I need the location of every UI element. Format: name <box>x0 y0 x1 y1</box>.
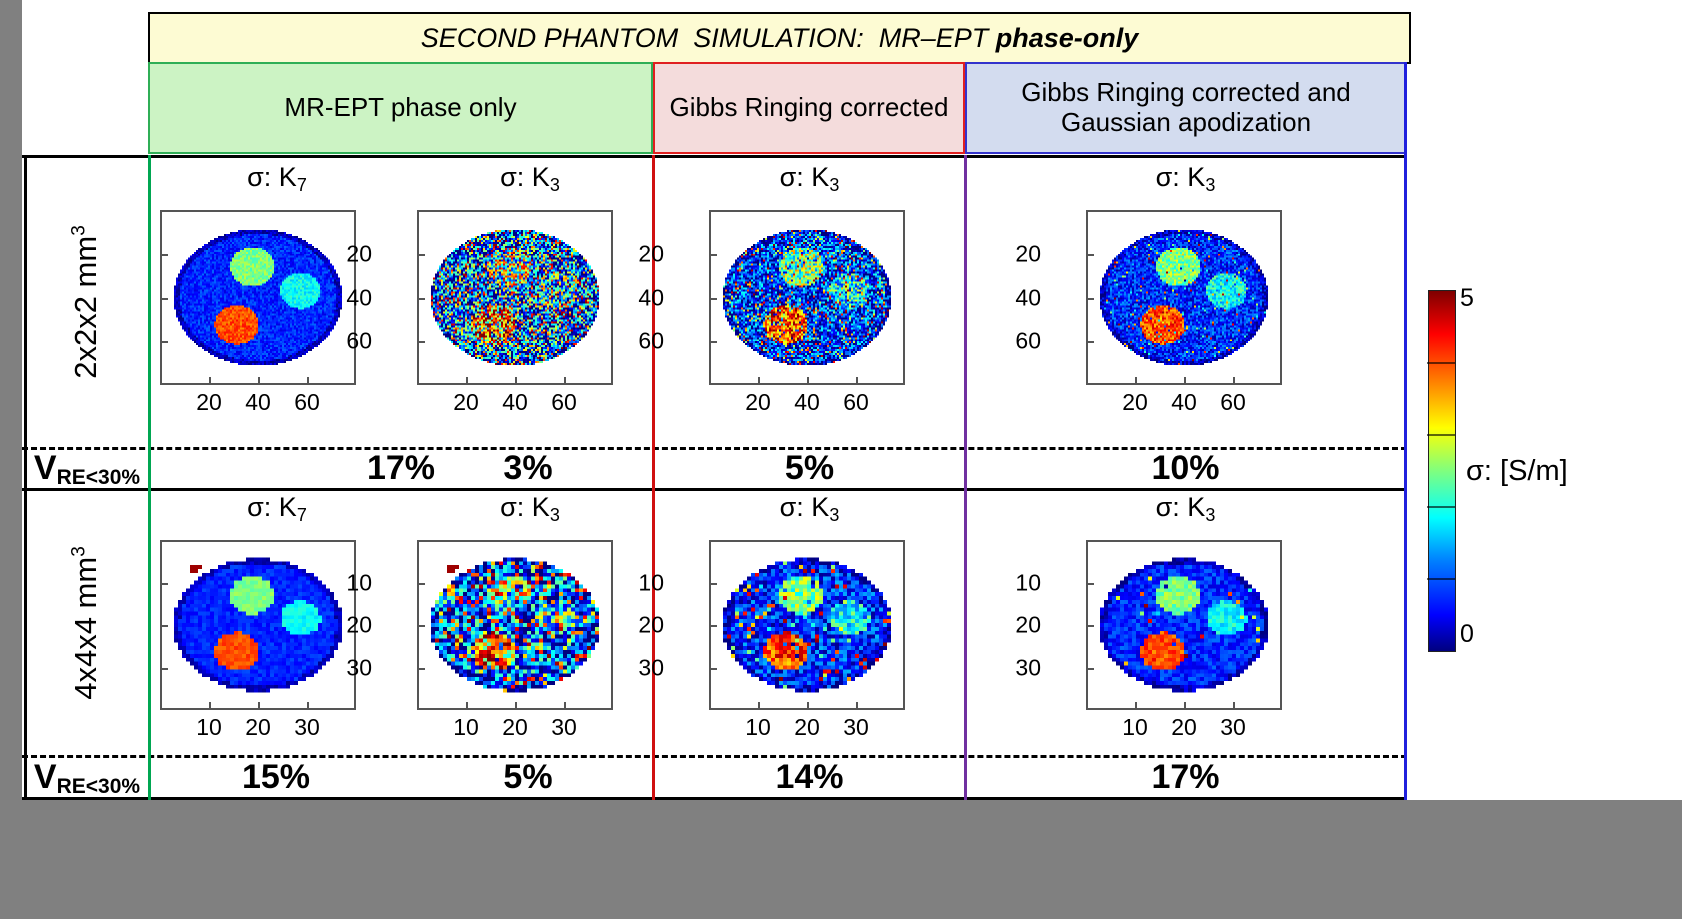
x-tick-mark <box>1135 702 1137 710</box>
y-tick-label: 20 <box>638 612 664 639</box>
phantom-image <box>711 212 903 383</box>
x-tick-label: 20 <box>1122 389 1148 416</box>
x-tick-label: 40 <box>794 389 820 416</box>
figure-title-banner: SECOND PHANTOM SIMULATION: MR–EPT phase-… <box>148 12 1411 64</box>
vre-main: V <box>34 758 57 796</box>
panel-axes <box>709 210 905 385</box>
x-tick-label: 60 <box>294 389 320 416</box>
x-tick-mark <box>856 702 858 710</box>
y-tick-mark <box>709 341 717 343</box>
column-header-mr-ept-phase-only: MR-EPT phase only <box>148 62 653 154</box>
vre-value-row2-col3: 14% <box>657 757 962 797</box>
separator-purple-right <box>964 155 967 800</box>
column-header-label: Gibbs Ringing corrected <box>670 93 949 123</box>
y-tick-mark <box>709 625 717 627</box>
y-tick-mark <box>1086 254 1094 256</box>
colorbar-tick <box>1427 506 1455 508</box>
colorbar-min-label: 0 <box>1460 620 1474 649</box>
column-header-label: Gibbs Ringing corrected and Gaussian apo… <box>973 78 1399 138</box>
colorbar-tick <box>1427 434 1455 436</box>
x-tick-label: 40 <box>502 389 528 416</box>
x-tick-label: 30 <box>294 714 320 741</box>
x-tick-mark <box>1233 377 1235 385</box>
x-tick-label: 20 <box>453 389 479 416</box>
x-tick-mark <box>209 702 211 710</box>
x-tick-mark <box>1233 702 1235 710</box>
x-tick-label: 20 <box>196 389 222 416</box>
x-tick-label: 20 <box>502 714 528 741</box>
y-tick-label: 30 <box>638 654 664 681</box>
panel-row2-col2: σ: K3 <box>405 492 655 757</box>
y-tick-mark <box>417 254 425 256</box>
colorbar: 5 0 <box>1428 290 1454 650</box>
x-tick-label: 10 <box>745 714 771 741</box>
phantom-image <box>711 542 903 708</box>
figure-page: SECOND PHANTOM SIMULATION: MR–EPT phase-… <box>0 0 1682 919</box>
y-tick-mark <box>709 668 717 670</box>
panel-title: σ: K3 <box>968 162 1403 193</box>
x-tick-label: 30 <box>551 714 577 741</box>
vre-value-row1-col4: 10% <box>968 449 1403 487</box>
x-tick-mark <box>856 377 858 385</box>
x-tick-mark <box>564 702 566 710</box>
panel-title: σ: K3 <box>405 492 655 523</box>
grid-hline-mid <box>22 488 1407 491</box>
vre-sub: RE<30% <box>57 466 140 489</box>
y-tick-mark <box>160 341 168 343</box>
x-tick-mark <box>807 377 809 385</box>
y-tick-mark <box>709 583 717 585</box>
y-tick-label: 60 <box>1015 328 1041 355</box>
vre-label-row2: VRE<30% <box>26 757 148 797</box>
x-tick-label: 30 <box>843 714 869 741</box>
x-tick-label: 40 <box>1171 389 1197 416</box>
panel-row1-col2: σ: K3 <box>405 162 655 447</box>
y-tick-label: 10 <box>638 569 664 596</box>
row-resolution-label: 4x4x4 mm <box>68 557 103 700</box>
phantom-image <box>162 542 354 708</box>
x-tick-mark <box>564 377 566 385</box>
colorbar-tick <box>1427 362 1455 364</box>
vre-sub: RE<30% <box>57 775 140 798</box>
y-tick-mark <box>417 583 425 585</box>
x-tick-label: 40 <box>245 389 271 416</box>
y-tick-label: 20 <box>1015 612 1041 639</box>
panel-axes <box>160 540 356 710</box>
y-tick-mark <box>709 254 717 256</box>
x-tick-mark <box>258 377 260 385</box>
y-tick-label: 30 <box>1015 654 1041 681</box>
x-tick-mark <box>515 377 517 385</box>
row-label-2x2x2: 2x2x2 mm3 <box>26 158 146 446</box>
x-tick-mark <box>807 702 809 710</box>
panel-title: σ: K3 <box>657 492 962 523</box>
y-tick-label: 20 <box>346 612 372 639</box>
colorbar-max-label: 5 <box>1460 284 1474 313</box>
vre-value-row1-col3: 5% <box>657 449 962 487</box>
x-tick-label: 20 <box>745 389 771 416</box>
x-tick-mark <box>1184 377 1186 385</box>
y-tick-mark <box>709 298 717 300</box>
x-tick-mark <box>758 702 760 710</box>
panel-axes <box>160 210 356 385</box>
y-tick-mark <box>417 668 425 670</box>
x-tick-label: 60 <box>551 389 577 416</box>
y-tick-label: 10 <box>1015 569 1041 596</box>
panel-axes <box>1086 210 1282 385</box>
grid-hline-top <box>22 155 1407 158</box>
separator-blue-far <box>1404 62 1407 800</box>
vre-value-row1-col2: 3% <box>405 449 651 487</box>
x-tick-mark <box>1184 702 1186 710</box>
x-tick-mark <box>466 702 468 710</box>
panel-title: σ: K3 <box>657 162 962 193</box>
y-tick-label: 20 <box>1015 240 1041 267</box>
x-tick-label: 10 <box>1122 714 1148 741</box>
y-tick-label: 40 <box>1015 284 1041 311</box>
y-tick-mark <box>1086 668 1094 670</box>
x-tick-mark <box>258 702 260 710</box>
panel-title: σ: K7 <box>152 162 402 193</box>
y-tick-label: 10 <box>346 569 372 596</box>
x-tick-mark <box>1135 377 1137 385</box>
x-tick-mark <box>307 377 309 385</box>
colorbar-unit-label: σ: [S/m] <box>1466 455 1568 488</box>
panel-axes <box>417 210 613 385</box>
row-resolution-exponent: 3 <box>69 546 90 557</box>
column-header-gibbs-ringing-corrected: Gibbs Ringing corrected <box>653 62 965 154</box>
y-tick-mark <box>1086 583 1094 585</box>
x-tick-label: 20 <box>794 714 820 741</box>
x-tick-mark <box>307 702 309 710</box>
vre-value-row2-col2: 5% <box>405 757 651 797</box>
separator-green-dup <box>148 155 151 800</box>
y-tick-label: 30 <box>346 654 372 681</box>
vre-main: V <box>34 449 57 487</box>
y-tick-label: 20 <box>638 240 664 267</box>
y-tick-label: 60 <box>638 328 664 355</box>
y-tick-mark <box>160 254 168 256</box>
y-tick-label: 20 <box>346 240 372 267</box>
panel-title: σ: K7 <box>152 492 402 523</box>
panel-axes <box>417 540 613 710</box>
y-tick-mark <box>417 298 425 300</box>
y-tick-mark <box>1086 625 1094 627</box>
y-tick-mark <box>417 341 425 343</box>
vre-label-row1: VRE<30% <box>26 449 148 487</box>
colorbar-tick <box>1427 578 1455 580</box>
x-tick-label: 60 <box>843 389 869 416</box>
colorbar-gradient <box>1428 290 1456 652</box>
phantom-image <box>1088 542 1280 708</box>
y-tick-mark <box>160 625 168 627</box>
phantom-image <box>1088 212 1280 383</box>
x-tick-label: 20 <box>245 714 271 741</box>
vre-value-row2-col1: 15% <box>152 757 400 797</box>
panel-title: σ: K3 <box>968 492 1403 523</box>
figure-title: SECOND PHANTOM SIMULATION: MR–EPT phase-… <box>421 23 1139 54</box>
column-header-label: MR-EPT phase only <box>284 93 516 123</box>
y-tick-mark <box>160 583 168 585</box>
x-tick-mark <box>515 702 517 710</box>
column-header-gibbs-gaussian-apodization: Gibbs Ringing corrected and Gaussian apo… <box>965 62 1407 154</box>
x-tick-label: 10 <box>196 714 222 741</box>
grid-hline-bottom <box>22 797 1407 800</box>
x-tick-mark <box>466 377 468 385</box>
y-tick-mark <box>1086 341 1094 343</box>
x-tick-mark <box>209 377 211 385</box>
row-label-4x4x4: 4x4x4 mm3 <box>26 492 146 754</box>
phantom-image <box>419 542 611 708</box>
y-tick-mark <box>160 668 168 670</box>
x-tick-label: 60 <box>1220 389 1246 416</box>
panel-axes <box>1086 540 1282 710</box>
row-resolution-label: 2x2x2 mm <box>68 236 103 379</box>
y-tick-mark <box>1086 298 1094 300</box>
x-tick-label: 30 <box>1220 714 1246 741</box>
phantom-image <box>162 212 354 383</box>
panel-axes <box>709 540 905 710</box>
y-tick-label: 40 <box>346 284 372 311</box>
y-tick-label: 60 <box>346 328 372 355</box>
y-tick-mark <box>417 625 425 627</box>
x-tick-label: 20 <box>1171 714 1197 741</box>
panel-title: σ: K3 <box>405 162 655 193</box>
phantom-image <box>419 212 611 383</box>
y-tick-label: 40 <box>638 284 664 311</box>
y-tick-mark <box>160 298 168 300</box>
x-tick-mark <box>758 377 760 385</box>
vre-value-row2-col4: 17% <box>968 757 1403 797</box>
x-tick-label: 10 <box>453 714 479 741</box>
row-resolution-exponent: 3 <box>69 225 90 236</box>
